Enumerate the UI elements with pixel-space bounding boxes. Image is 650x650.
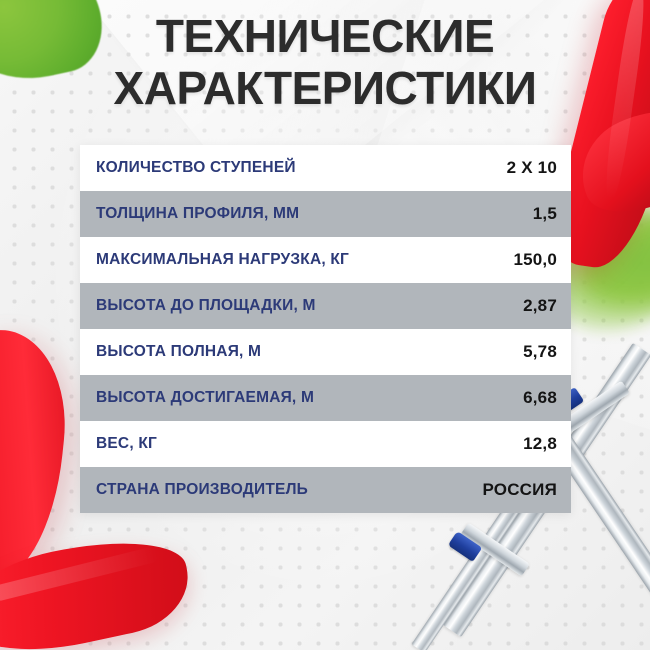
table-row: КОЛИЧЕСТВО СТУПЕНЕЙ2 X 10 <box>80 145 571 191</box>
page-title: ТЕХНИЧЕСКИЕ ХАРАКТЕРИСТИКИ <box>0 10 650 114</box>
spec-label: ВЕС, КГ <box>96 435 157 453</box>
table-row: ТОЛЩИНА ПРОФИЛЯ, ММ1,5 <box>80 191 571 237</box>
spec-label: СТРАНА ПРОИЗВОДИТЕЛЬ <box>96 481 308 499</box>
spec-label: ВЫСОТА ДО ПЛОЩАДКИ, М <box>96 297 316 315</box>
spec-value: 1,5 <box>533 204 557 224</box>
page-title-line-1: ТЕХНИЧЕСКИЕ <box>0 10 650 62</box>
spec-label: ВЫСОТА ПОЛНАЯ, М <box>96 343 261 361</box>
spec-value: 2 X 10 <box>507 158 557 178</box>
table-row: ВЫСОТА ПОЛНАЯ, М5,78 <box>80 329 571 375</box>
table-row: СТРАНА ПРОИЗВОДИТЕЛЬРОССИЯ <box>80 467 571 513</box>
table-row: МАКСИМАЛЬНАЯ НАГРУЗКА, КГ150,0 <box>80 237 571 283</box>
spec-label: ВЫСОТА ДОСТИГАЕМАЯ, М <box>96 389 314 407</box>
spec-value: 6,68 <box>523 388 557 408</box>
spec-value: 12,8 <box>523 434 557 454</box>
spec-value: 150,0 <box>513 250 557 270</box>
specifications-table: КОЛИЧЕСТВО СТУПЕНЕЙ2 X 10ТОЛЩИНА ПРОФИЛЯ… <box>80 145 571 513</box>
page-title-line-2: ХАРАКТЕРИСТИКИ <box>0 62 650 114</box>
spec-label: КОЛИЧЕСТВО СТУПЕНЕЙ <box>96 159 296 177</box>
table-row: ВЫСОТА ДО ПЛОЩАДКИ, М2,87 <box>80 283 571 329</box>
spec-value: РОССИЯ <box>482 480 557 500</box>
spec-card-page: ТЕХНИЧЕСКИЕ ХАРАКТЕРИСТИКИ КОЛИЧЕСТВО СТ… <box>0 0 650 650</box>
spec-value: 5,78 <box>523 342 557 362</box>
spec-label: ТОЛЩИНА ПРОФИЛЯ, ММ <box>96 205 299 223</box>
spec-value: 2,87 <box>523 296 557 316</box>
table-row: ВЕС, КГ12,8 <box>80 421 571 467</box>
spec-label: МАКСИМАЛЬНАЯ НАГРУЗКА, КГ <box>96 251 349 269</box>
table-row: ВЫСОТА ДОСТИГАЕМАЯ, М6,68 <box>80 375 571 421</box>
